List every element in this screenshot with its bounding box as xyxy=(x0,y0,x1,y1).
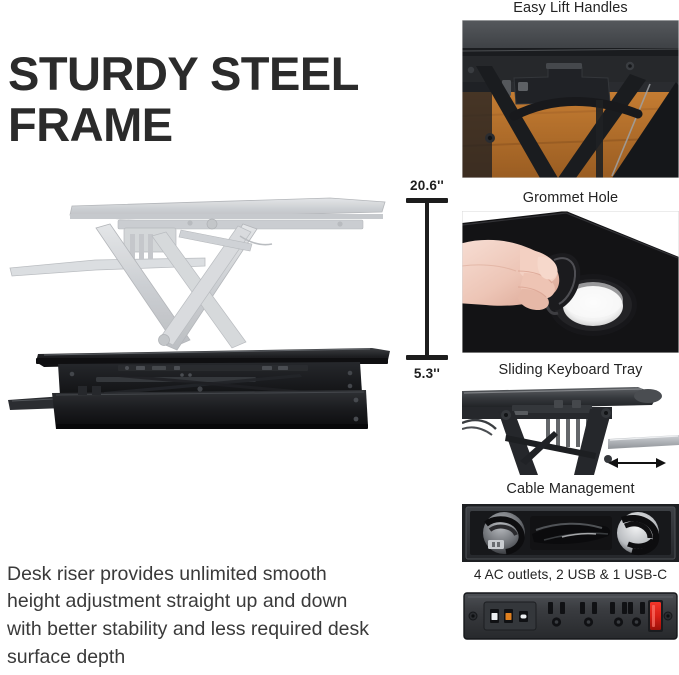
feature-caption-lift-handles: Easy Lift Handles xyxy=(462,0,679,17)
feature-panel-lift-handles: Easy Lift Handles xyxy=(462,0,679,178)
description-text: Desk riser provides unlimited smooth hei… xyxy=(7,561,377,673)
dimension-label-max-height: 20.6'' xyxy=(398,178,456,193)
power-strip-photo xyxy=(462,589,679,643)
feature-caption-grommet: Grommet Hole xyxy=(462,190,679,207)
feature-panel-power-strip: 4 AC outlets, 2 USB & 1 USB-C xyxy=(462,567,679,643)
cable-management-tray-photo xyxy=(462,504,679,562)
sliding-keyboard-tray-photo xyxy=(462,383,679,475)
left-content-column: STURDY STEEL FRAME xyxy=(0,0,458,675)
page-title: STURDY STEEL FRAME xyxy=(8,49,448,151)
dimension-marker: 20.6'' 5.3'' xyxy=(398,178,456,386)
figure-lowered-solid xyxy=(8,348,390,429)
dimension-cap-bottom xyxy=(406,355,448,360)
feature-panel-keyboard-tray: Sliding Keyboard Tray xyxy=(462,362,679,475)
dimension-stem xyxy=(425,202,429,357)
figure-raised-ghost xyxy=(10,198,385,350)
lift-handle-underside-photo xyxy=(462,20,679,178)
feature-panel-cable-management: Cable Management xyxy=(462,481,679,562)
feature-caption-power-strip: 4 AC outlets, 2 USB & 1 USB-C xyxy=(462,567,679,583)
feature-panel-grommet: Grommet Hole xyxy=(462,190,679,353)
feature-panels-column: Easy Lift Handles xyxy=(462,0,679,675)
feature-caption-cable-management: Cable Management xyxy=(462,481,679,498)
product-figure xyxy=(0,188,400,440)
dimension-label-min-height: 5.3'' xyxy=(398,366,456,381)
grommet-hole-hand-photo xyxy=(462,211,679,353)
feature-caption-keyboard-tray: Sliding Keyboard Tray xyxy=(462,362,679,379)
